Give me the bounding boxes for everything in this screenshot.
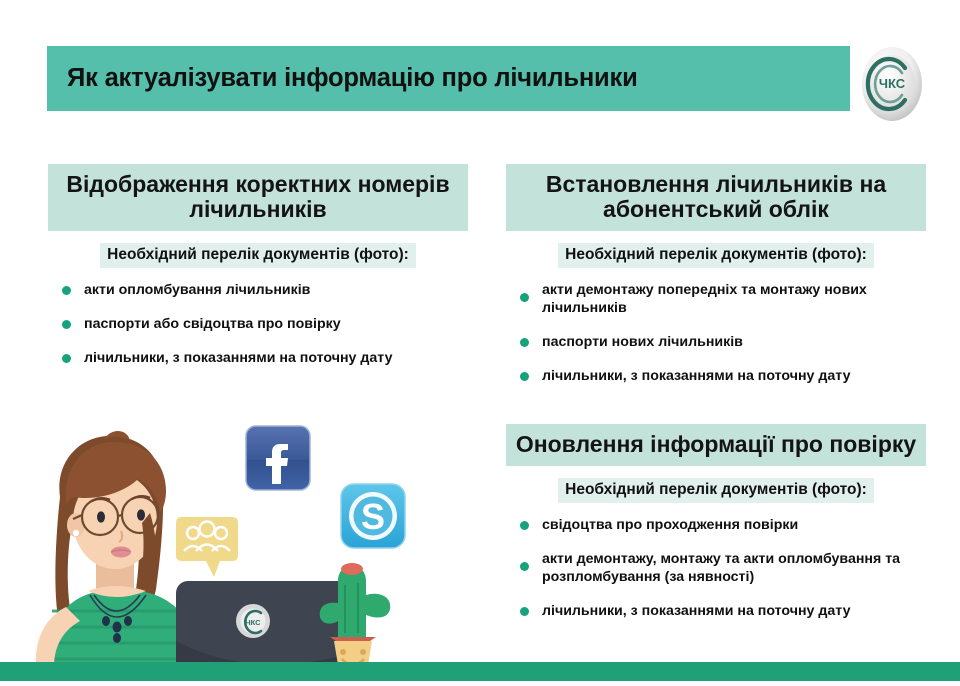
list-item: акти демонтажу попередніх та монтажу нов… <box>520 281 926 317</box>
section-subtitle-row: Необхідний перелік документів (фото): <box>506 231 926 268</box>
eye-left <box>97 511 105 522</box>
section-header: Оновлення інформації про повірку <box>506 424 926 466</box>
section-subtitle-row: Необхідний перелік документів (фото): <box>506 466 926 503</box>
section-verification-update: Оновлення інформації про повірку Необхід… <box>506 424 926 636</box>
document-list: акти демонтажу попередніх та монтажу нов… <box>520 281 926 385</box>
document-list: акти опломбування лічильників паспорти а… <box>62 281 468 367</box>
section-header: Відображення коректних номерів лічильник… <box>48 164 468 231</box>
section-subtitle: Необхідний перелік документів (фото): <box>558 478 874 503</box>
list-item: лічильники, з показаннями на поточну дат… <box>520 367 926 385</box>
facebook-icon[interactable] <box>242 422 314 494</box>
laptop-with-logo: ЧКС <box>176 581 352 671</box>
bullet-dot-icon <box>62 354 71 363</box>
company-logo: ЧКС <box>861 46 923 122</box>
eye-right <box>137 509 145 520</box>
list-item: свідоцтва про проходження повірки <box>520 516 926 534</box>
section-subtitle-row: Необхідний перелік документів (фото): <box>48 231 468 268</box>
section-correct-meter-numbers: Відображення коректних номерів лічильник… <box>48 164 468 383</box>
shirt <box>48 591 198 667</box>
bullet-dot-icon <box>520 562 529 571</box>
page-title-bar: Як актуалізувати інформацію про лічильни… <box>47 46 850 111</box>
list-item: акти демонтажу, монтажу та акти опломбув… <box>520 550 926 586</box>
list-item-label: свідоцтва про проходження повірки <box>542 517 798 533</box>
list-item: акти опломбування лічильників <box>62 281 468 299</box>
section-subtitle: Необхідний перелік документів (фото): <box>558 243 874 268</box>
list-item-label: акти демонтажу попередніх та монтажу нов… <box>542 282 867 316</box>
bullet-dot-icon <box>62 286 71 295</box>
bullet-dot-icon <box>520 521 529 530</box>
list-item: паспорти нових лічильників <box>520 333 926 351</box>
list-item-label: лічильники, з показаннями на поточну дат… <box>542 368 850 384</box>
page-title: Як актуалізувати інформацію про лічильни… <box>47 64 638 93</box>
list-item: лічильники, з показаннями на поточну дат… <box>520 602 926 620</box>
skype-icon-svg: S <box>339 482 407 550</box>
bullet-dot-icon <box>520 372 529 381</box>
bullet-dot-icon <box>62 320 71 329</box>
list-item-label: акти опломбування лічильників <box>84 282 310 298</box>
list-item: паспорти або свідоцтва про повірку <box>62 315 468 333</box>
bullet-dot-icon <box>520 338 529 347</box>
section-header: Встановлення лічильників на абонентський… <box>506 164 926 231</box>
svg-text:S: S <box>361 496 385 537</box>
document-list: свідоцтва про проходження повірки акти д… <box>520 516 926 620</box>
company-logo-lettering: ЧКС <box>879 76 906 91</box>
list-item-label: паспорти нових лічильників <box>542 334 743 350</box>
list-item-label: акти демонтажу, монтажу та акти опломбув… <box>542 551 900 585</box>
lips <box>111 547 131 558</box>
list-item-label: лічильники, з показаннями на поточну дат… <box>84 350 392 366</box>
company-logo-icon: ЧКС <box>861 46 923 122</box>
skype-icon[interactable]: S <box>339 482 407 550</box>
section-subtitle: Необхідний перелік документів (фото): <box>100 243 416 268</box>
bullet-dot-icon <box>520 607 529 616</box>
list-item: лічильники, з показаннями на поточну дат… <box>62 349 468 367</box>
svg-text:ЧКС: ЧКС <box>245 618 261 627</box>
list-item-label: лічильники, з показаннями на поточну дат… <box>542 603 850 619</box>
section-meter-registration: Встановлення лічильників на абонентський… <box>506 164 926 401</box>
desk-bar <box>0 662 960 681</box>
list-item-label: паспорти або свідоцтва про повірку <box>84 316 341 332</box>
earring <box>73 530 79 536</box>
facebook-icon-svg <box>242 422 314 494</box>
speech-bubble <box>176 517 238 577</box>
bullet-dot-icon <box>520 293 529 302</box>
